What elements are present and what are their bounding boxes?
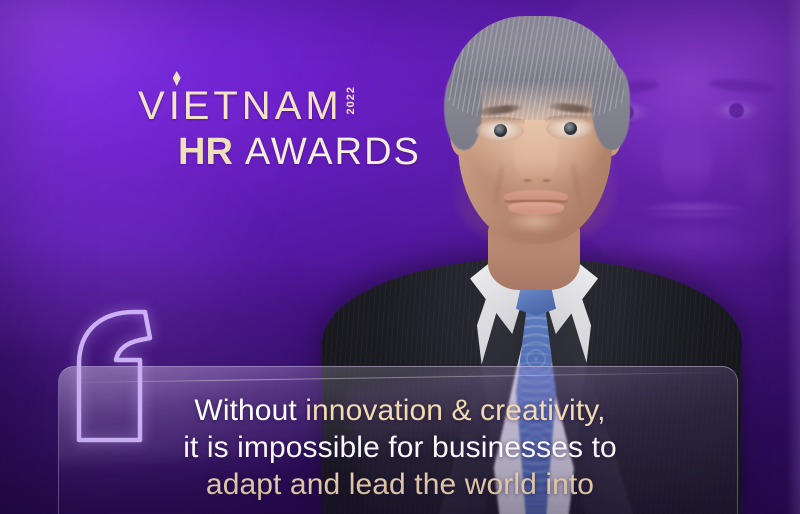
- logo-vietnam-rest: ETNAM: [183, 84, 343, 128]
- quote-line-1-gold: innovation & creativity,: [305, 394, 605, 427]
- portrait-eyelid-left: [475, 117, 525, 126]
- quote-line-3: adapt and lead the world into: [0, 466, 800, 503]
- vietnam-hr-awards-logo: VIETNAM 2022 HR AWARDS: [138, 84, 408, 176]
- quote-text-block: Without innovation & creativity, it is i…: [0, 392, 800, 503]
- right-edge-rim-light: [786, 0, 800, 514]
- logo-line-hr-awards: HR AWARDS: [178, 132, 408, 172]
- quote-line-1: Without innovation & creativity,: [0, 392, 800, 429]
- portrait-eyelid-right: [545, 115, 595, 124]
- logo-year: 2022: [346, 86, 357, 114]
- portrait-hair: [448, 16, 624, 120]
- logo-vietnam-text: VIETNAM: [138, 84, 343, 128]
- portrait-chin: [498, 214, 572, 240]
- logo-line-vietnam: VIETNAM 2022: [138, 84, 408, 130]
- quote-line-1-white: Without: [194, 394, 305, 427]
- poster-canvas: VIETNAM 2022 HR AWARDS Without innovatio…: [0, 0, 800, 514]
- logo-vietnam-i-with-flame: I: [169, 84, 183, 128]
- logo-awards-text: AWARDS: [245, 132, 421, 172]
- logo-vietnam-i: I: [169, 84, 183, 128]
- quote-line-2: it is impossible for businesses to: [0, 429, 800, 466]
- logo-vietnam-v: V: [138, 84, 169, 128]
- logo-hr-text: HR: [178, 132, 233, 172]
- portrait-nostrils: [520, 176, 554, 185]
